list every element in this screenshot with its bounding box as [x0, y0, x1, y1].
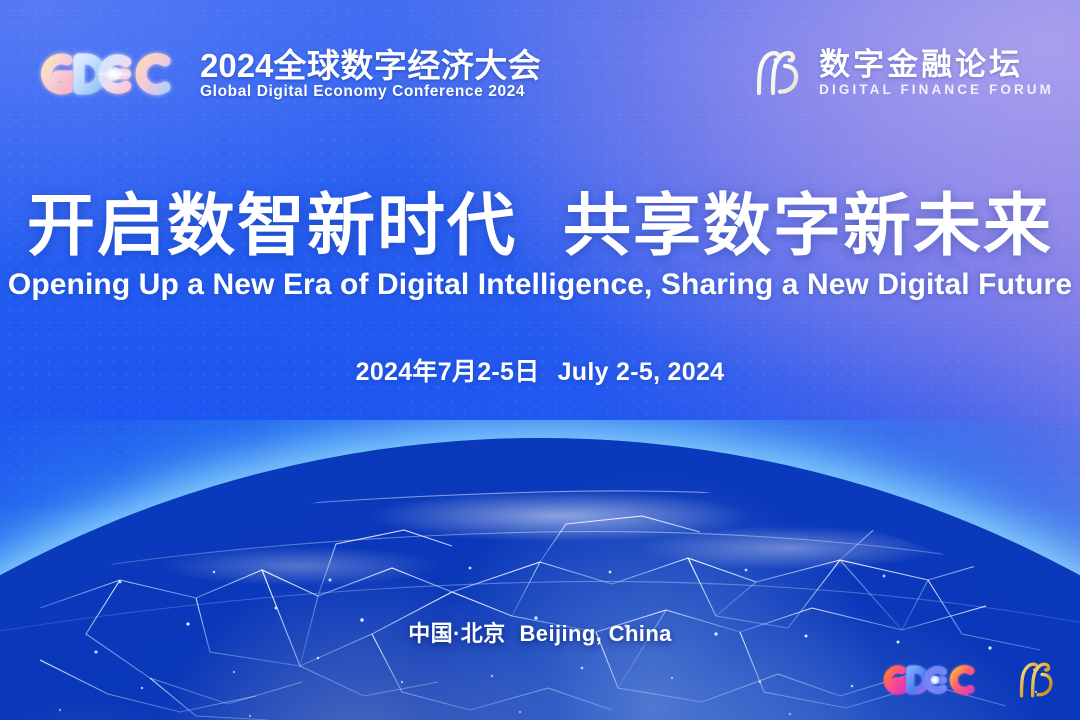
headline-part-1: 开启数智新时代 — [27, 188, 517, 264]
event-date: 2024年7月2-5日July 2-5, 2024 — [0, 352, 1080, 388]
gdec-title-cn: 2024全球数字经济大会 — [200, 49, 541, 82]
event-date-cn: 2024年7月2-5日 — [356, 358, 540, 386]
ff-monogram-icon — [747, 46, 805, 100]
gdec-logo-lockup: 2024全球数字经济大会 Global Digital Economy Conf… — [34, 44, 541, 104]
gdec-title-cn-text: 全球数字经济大会 — [273, 47, 541, 84]
conference-backdrop: 2024全球数字经济大会 Global Digital Economy Conf… — [0, 0, 1080, 720]
gdec-logo-icon — [34, 44, 186, 104]
headline-part-2: 共享数字新未来 — [563, 188, 1053, 264]
event-date-en: July 2-5, 2024 — [558, 358, 725, 386]
gdec-title-en: Global Digital Economy Conference 2024 — [200, 84, 541, 100]
event-location-en: Beijing, China — [520, 621, 672, 646]
gdec-logo-footer-icon — [878, 659, 986, 701]
main-subheadline: Opening Up a New Era of Digital Intellig… — [0, 268, 1080, 303]
dff-logo-text: 数字金融论坛 DIGITAL FINANCE FORUM — [819, 49, 1054, 97]
dff-title-cn: 数字金融论坛 — [819, 49, 1054, 80]
main-headline: 开启数智新时代共享数字新未来 — [0, 192, 1080, 260]
event-location-cn: 中国·北京 — [408, 621, 505, 646]
ff-monogram-footer-icon — [1012, 658, 1058, 702]
gdec-title-year: 2024 — [200, 47, 273, 84]
digital-finance-forum-lockup: 数字金融论坛 DIGITAL FINANCE FORUM — [747, 46, 1054, 100]
gdec-logo-text: 2024全球数字经济大会 Global Digital Economy Conf… — [200, 49, 541, 100]
event-location: 中国·北京Beijing, China — [0, 616, 1080, 648]
footer-logo-group — [878, 658, 1058, 702]
dff-title-en: DIGITAL FINANCE FORUM — [819, 83, 1054, 97]
